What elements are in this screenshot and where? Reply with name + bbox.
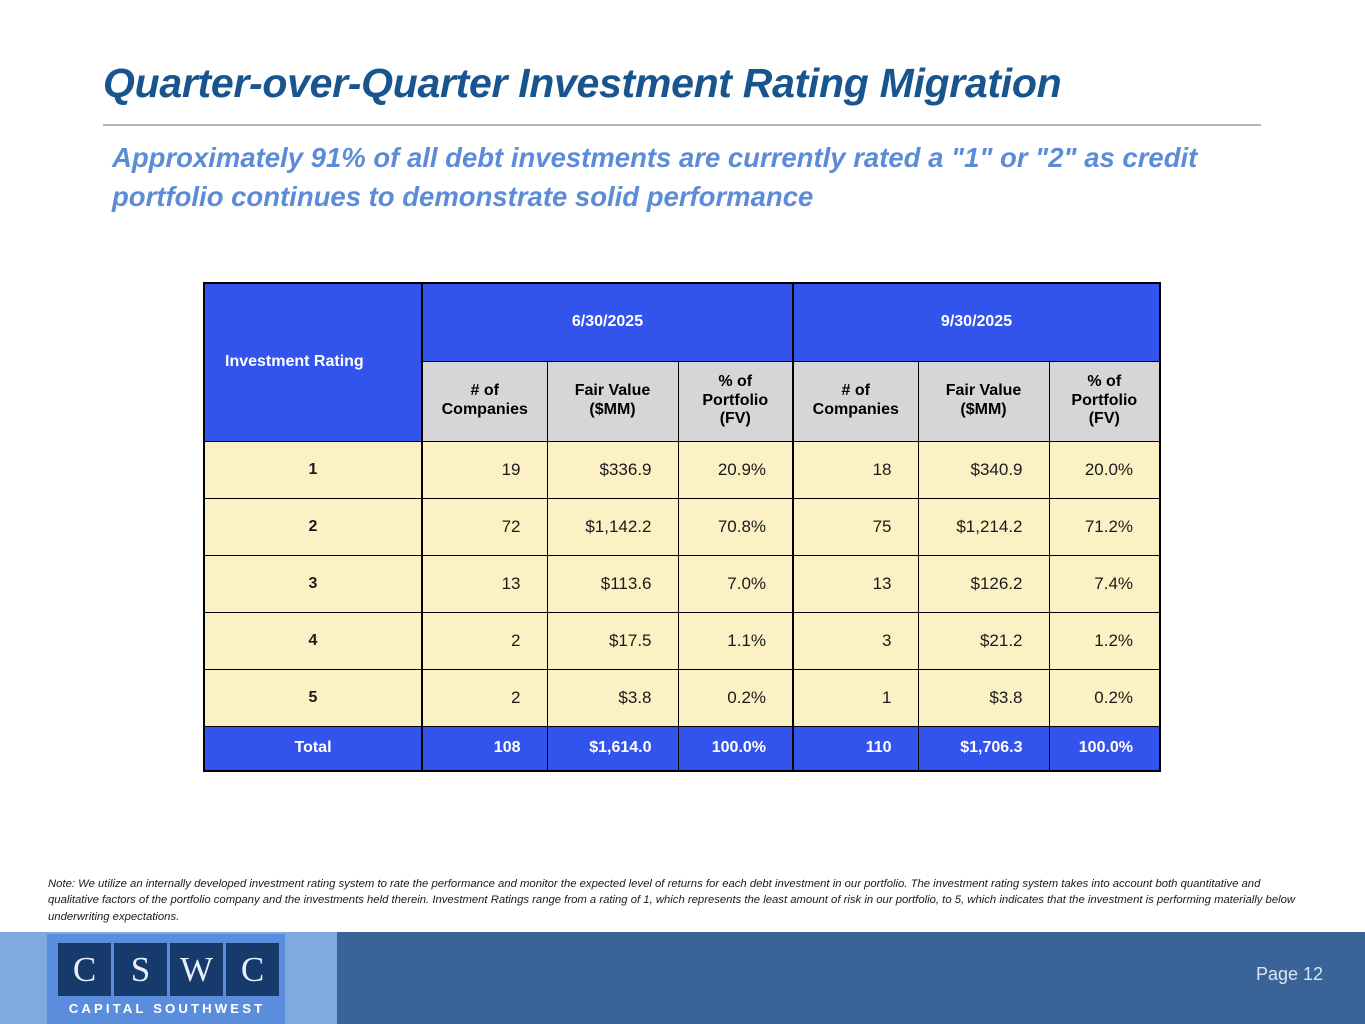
cswc-logo: C S W C CAPITAL SOUTHWEST <box>47 934 285 1024</box>
col-header-q2-pct-line3: (FV) <box>1050 410 1160 429</box>
cell-q1-companies: 2 <box>422 669 547 726</box>
investment-rating-table-container: Investment Rating 6/30/2025 9/30/2025 # … <box>203 282 1159 772</box>
col-header-q1-companies-line1: # of <box>423 382 547 401</box>
investment-rating-table: Investment Rating 6/30/2025 9/30/2025 # … <box>203 282 1161 772</box>
col-header-q2-companies-line2: Companies <box>794 401 918 420</box>
cell-q2-companies: 18 <box>793 441 918 498</box>
cell-q1-pct: 70.8% <box>678 498 793 555</box>
cell-rating: 4 <box>204 612 422 669</box>
logo-letter-w: W <box>170 943 223 996</box>
slide-footer: C S W C CAPITAL SOUTHWEST Page 12 <box>0 932 1365 1024</box>
slide-root: Quarter-over-Quarter Investment Rating M… <box>0 0 1365 1024</box>
cell-rating: 3 <box>204 555 422 612</box>
cell-q1-pct: 20.9% <box>678 441 793 498</box>
logo-tagline: CAPITAL SOUTHWEST <box>60 1001 274 1016</box>
cell-rating: 1 <box>204 441 422 498</box>
logo-letter-c2: C <box>226 943 279 996</box>
page-title: Quarter-over-Quarter Investment Rating M… <box>103 60 1263 107</box>
cell-q2-companies: 1 <box>793 669 918 726</box>
table-total-row: Total 108 $1,614.0 100.0% 110 $1,706.3 1… <box>204 726 1160 771</box>
cell-q2-fair-value: $1,214.2 <box>918 498 1049 555</box>
cell-rating: 2 <box>204 498 422 555</box>
col-header-q1-fair-value: Fair Value ($MM) <box>547 361 678 441</box>
col-header-q2-pct-portfolio: % of Portfolio (FV) <box>1049 361 1160 441</box>
total-q1-companies: 108 <box>422 726 547 771</box>
cell-q1-pct: 1.1% <box>678 612 793 669</box>
cell-q2-pct: 20.0% <box>1049 441 1160 498</box>
cell-q2-pct: 71.2% <box>1049 498 1160 555</box>
table-row: 313$113.67.0%13$126.27.4% <box>204 555 1160 612</box>
total-q2-fair-value: $1,706.3 <box>918 726 1049 771</box>
col-header-q1-fair-value-line2: ($MM) <box>548 401 678 420</box>
col-header-q2-pct-line2: Portfolio <box>1050 392 1160 411</box>
col-header-q1-pct-line2: Portfolio <box>679 392 793 411</box>
cell-q2-fair-value: $21.2 <box>918 612 1049 669</box>
col-header-q2-companies: # of Companies <box>793 361 918 441</box>
cell-q2-fair-value: $126.2 <box>918 555 1049 612</box>
table-footer: Total 108 $1,614.0 100.0% 110 $1,706.3 1… <box>204 726 1160 771</box>
col-header-q1-pct-line1: % of <box>679 373 793 392</box>
table-group-header-row: Investment Rating 6/30/2025 9/30/2025 <box>204 283 1160 361</box>
cell-q1-companies: 2 <box>422 612 547 669</box>
col-header-q1-pct-portfolio: % of Portfolio (FV) <box>678 361 793 441</box>
cell-q2-companies: 13 <box>793 555 918 612</box>
col-header-q2-pct-line1: % of <box>1050 373 1160 392</box>
cell-q1-pct: 0.2% <box>678 669 793 726</box>
cell-q1-companies: 19 <box>422 441 547 498</box>
logo-letter-c1: C <box>58 943 111 996</box>
total-q2-companies: 110 <box>793 726 918 771</box>
cell-rating: 5 <box>204 669 422 726</box>
cell-q1-companies: 72 <box>422 498 547 555</box>
title-divider <box>103 124 1261 126</box>
table-row: 272$1,142.270.8%75$1,214.271.2% <box>204 498 1160 555</box>
table-row: 119$336.920.9%18$340.920.0% <box>204 441 1160 498</box>
cell-q1-fair-value: $1,142.2 <box>547 498 678 555</box>
cell-q1-fair-value: $3.8 <box>547 669 678 726</box>
table-row: 52$3.80.2%1$3.80.2% <box>204 669 1160 726</box>
col-group-header-q1: 6/30/2025 <box>422 283 793 361</box>
footnote-note: Note: We utilize an internally developed… <box>48 876 1310 925</box>
cell-q1-pct: 7.0% <box>678 555 793 612</box>
logo-letter-s: S <box>114 943 167 996</box>
col-group-header-q2: 9/30/2025 <box>793 283 1160 361</box>
col-header-q1-fair-value-line1: Fair Value <box>548 382 678 401</box>
cell-q2-companies: 75 <box>793 498 918 555</box>
col-header-q2-companies-line1: # of <box>794 382 918 401</box>
col-header-investment-rating: Investment Rating <box>204 283 422 441</box>
col-header-q1-pct-line3: (FV) <box>679 410 793 429</box>
col-header-q1-companies-line2: Companies <box>423 401 547 420</box>
page-number: Page 12 <box>1256 964 1323 985</box>
table-row: 42$17.51.1%3$21.21.2% <box>204 612 1160 669</box>
table-body: 119$336.920.9%18$340.920.0%272$1,142.270… <box>204 441 1160 726</box>
cell-q2-fair-value: $340.9 <box>918 441 1049 498</box>
slide-subtitle: Approximately 91% of all debt investment… <box>112 138 1282 216</box>
cell-q1-fair-value: $336.9 <box>547 441 678 498</box>
cell-q2-pct: 1.2% <box>1049 612 1160 669</box>
cell-q1-fair-value: $113.6 <box>547 555 678 612</box>
cell-q2-pct: 7.4% <box>1049 555 1160 612</box>
cell-q2-pct: 0.2% <box>1049 669 1160 726</box>
cell-q1-companies: 13 <box>422 555 547 612</box>
total-q2-pct: 100.0% <box>1049 726 1160 771</box>
total-q1-fair-value: $1,614.0 <box>547 726 678 771</box>
cell-q2-fair-value: $3.8 <box>918 669 1049 726</box>
cell-q1-fair-value: $17.5 <box>547 612 678 669</box>
total-q1-pct: 100.0% <box>678 726 793 771</box>
total-label: Total <box>204 726 422 771</box>
col-header-q2-fair-value-line1: Fair Value <box>919 382 1049 401</box>
footer-dark-band <box>337 932 1365 1024</box>
cell-q2-companies: 3 <box>793 612 918 669</box>
col-header-q2-fair-value: Fair Value ($MM) <box>918 361 1049 441</box>
logo-letter-squares: C S W C <box>58 943 279 996</box>
col-header-q2-fair-value-line2: ($MM) <box>919 401 1049 420</box>
col-header-q1-companies: # of Companies <box>422 361 547 441</box>
